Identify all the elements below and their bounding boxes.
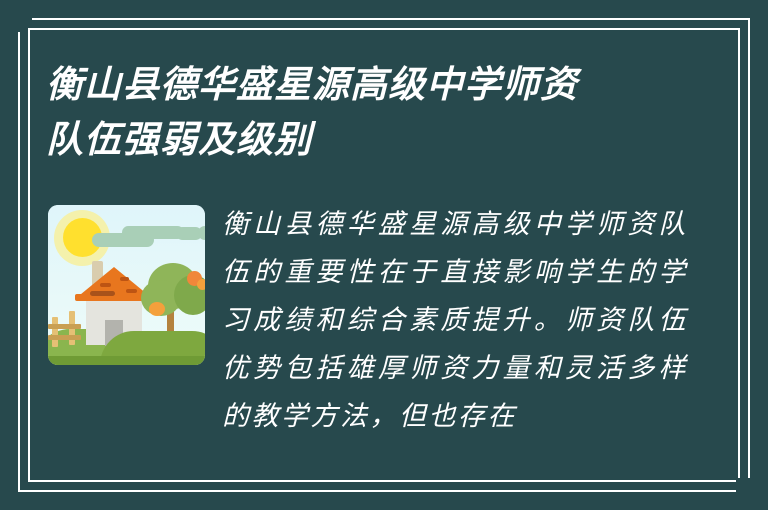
frame-corner-mask-top-left-h <box>0 18 20 32</box>
illustration-thumbnail <box>48 205 205 365</box>
fence-post-shape <box>52 317 58 347</box>
body-paragraph: 衡山县德华盛星源高级中学师资队伍的重要性在于直接影响学生的学习成绩和综合素质提升… <box>222 201 688 441</box>
ground-strip-shape <box>48 356 205 365</box>
page-title-line-2: 队伍强弱及级别 <box>46 112 686 167</box>
roof-tile-shape <box>120 277 129 281</box>
cloud-icon <box>122 226 184 239</box>
fruit-icon <box>149 302 165 316</box>
fence-bar-shape <box>48 324 81 329</box>
content-row: 衡山县德华盛星源高级中学师资队伍的重要性在于直接影响学生的学习成绩和综合素质提升… <box>48 205 688 475</box>
fruit-icon <box>197 279 205 290</box>
page-title-line-1: 衡山县德华盛星源高级中学师资 <box>46 57 686 112</box>
fence-bar-shape <box>48 335 81 340</box>
frame-corner-mask-bottom-right-v <box>736 480 752 502</box>
page-title: 衡山县德华盛星源高级中学师资 队伍强弱及级别 <box>46 57 686 167</box>
roof-tile-shape <box>90 291 115 296</box>
poster-canvas: 衡山县德华盛星源高级中学师资 队伍强弱及级别 <box>0 0 768 510</box>
frame-corner-mask-top-left-v <box>18 0 32 20</box>
frame-corner-mask-bottom-right-h <box>738 478 760 494</box>
roof-tile-shape <box>100 283 111 287</box>
roof-tile-shape <box>126 289 137 293</box>
cloud-icon <box>198 226 205 240</box>
